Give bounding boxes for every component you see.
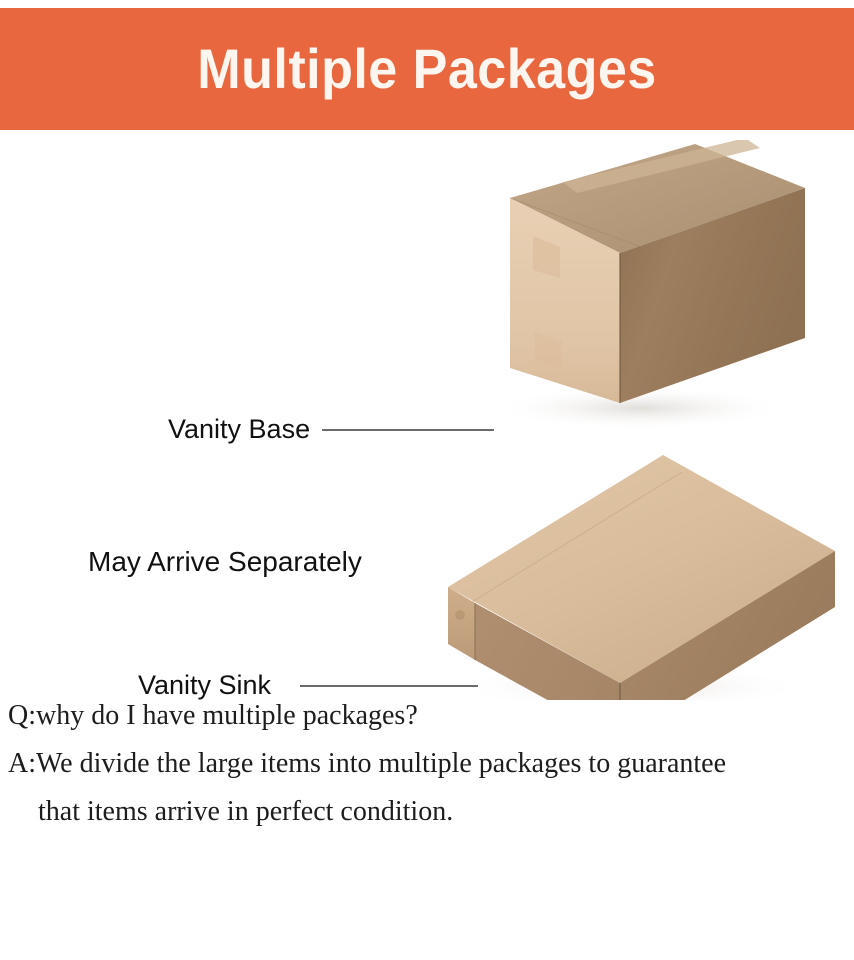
faq-answer-line-1: A:We divide the large items into multipl… [0,740,854,788]
leader-line-vanity-sink [300,685,478,687]
faq-answer-line-2: that items arrive in perfect condition. [0,788,854,836]
vanity-base-box-image [455,140,825,430]
product-info-graphic: Multiple Packages [0,0,854,960]
vanity-sink-box-image [420,435,850,700]
faq-block: Q:why do I have multiple packages? A:We … [0,692,854,836]
faq-question: Q:why do I have multiple packages? [0,692,854,740]
header-banner: Multiple Packages [0,8,854,130]
note-may-arrive-separately: May Arrive Separately [88,548,362,576]
page-title: Multiple Packages [197,41,656,97]
package-illustration: Vanity Base May Arrive Separately Vanity… [0,130,854,700]
callout-label-vanity-base: Vanity Base [168,416,310,443]
box-hand-hole [455,610,465,620]
leader-line-vanity-base [322,429,494,431]
